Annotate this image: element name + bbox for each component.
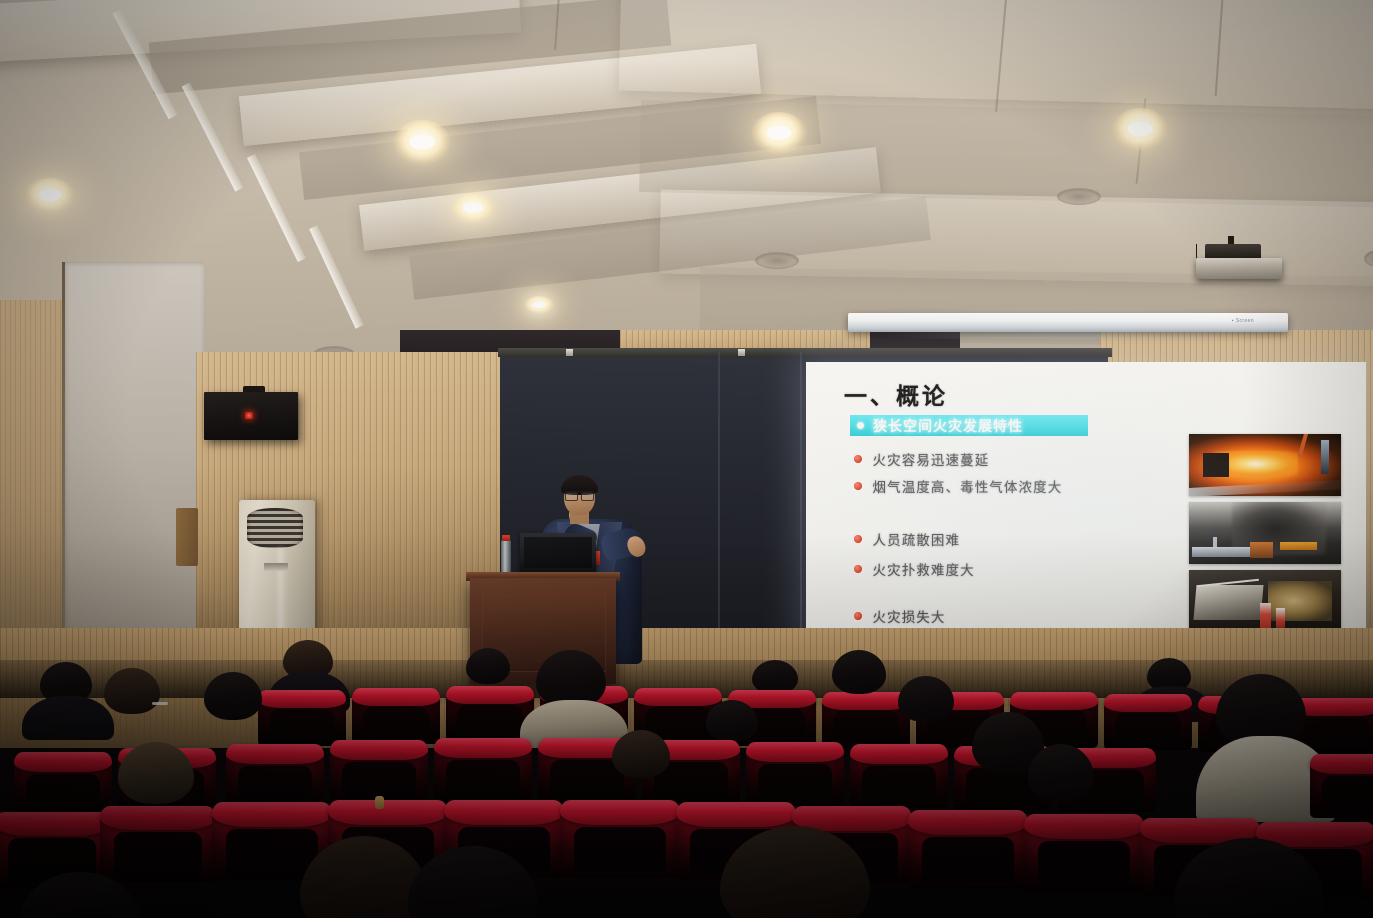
ceiling-step-edge [309,225,364,328]
screen-brand-logo: ▪ Screen [1232,318,1254,324]
ac-control-panel [264,563,288,571]
hair-tie [375,796,384,809]
backdrop-top-rail [498,348,1112,357]
ceiling-downlight-off [755,252,799,269]
seat[interactable] [434,738,532,802]
roadside-post [1321,440,1329,474]
attendee-head [1028,744,1094,802]
slide-bullet: 火灾损失大 [854,606,946,626]
seat[interactable] [14,752,112,816]
attendee-head [706,700,758,742]
slide-bullet: 火灾容易迅速蔓延 [854,449,989,469]
seat[interactable] [908,810,1028,888]
seat[interactable] [352,688,440,744]
slide-photo-wreckage [1189,570,1341,632]
slide-bullet-text: 烟气温度高、毒性气体浓度大 [873,476,1063,496]
attendee-head [118,742,194,804]
projector-icon [1196,258,1282,279]
seat[interactable] [560,800,680,878]
floor-object [176,508,198,566]
seat[interactable] [1310,754,1373,818]
slide-bullet-text: 火灾容易迅速蔓延 [873,449,990,469]
ceiling-step-edge [247,154,306,262]
slide-photo-burning-vehicle [1189,434,1341,496]
projected-slide: 一、概论 狭长空间火灾发展特性 火灾容易迅速蔓延 烟气温度高、毒性气体浓度大 人… [806,362,1366,644]
rail-glint [738,349,745,356]
attendee-head [104,668,160,714]
ac-air-grille [247,508,303,548]
bullet-dot-icon [854,565,862,573]
ceiling-downlight-on [1113,108,1167,150]
ceiling-downlight-on [752,112,806,154]
seat[interactable] [258,690,346,746]
attendee-head [832,650,886,694]
slide-bullet-text: 火灾扑救难度大 [873,559,975,579]
rail-glint [566,349,573,356]
seat[interactable] [850,744,948,808]
attendee-head [466,648,510,684]
slide-photo-smoke-plume [1189,502,1341,564]
slide-bullet-text: 火灾损失大 [873,606,946,626]
slide-highlight-heading-text: 狭长空间火灾发展特性 [873,416,1023,436]
attendee-head [898,676,954,722]
seat[interactable] [1024,814,1144,892]
responder-figure [1276,608,1285,629]
road-surface [1189,480,1341,496]
auditorium-lecture-photograph: ▪ Screen 一、概论 狭长空间火灾发展特性 火灾容易迅速蔓延 烟气温度高、… [0,0,1373,918]
backdrop-seam [800,352,802,670]
glasses-icon [152,702,168,705]
slide-bullet-text: 人员疏散困难 [873,529,961,549]
road-sign [1280,542,1316,550]
projection-screen-housing: ▪ Screen [848,313,1288,332]
seat[interactable] [100,806,216,882]
bottle-cap [502,535,510,541]
attendee-head [204,672,262,720]
bullet-dot-icon [854,455,862,463]
ceiling-downlight-on [451,193,495,223]
guardrail [1192,547,1250,557]
ceiling-downlight-on [524,296,554,314]
responder-figure [1260,603,1271,628]
slide-bullet: 火灾扑救难度大 [854,559,975,579]
ceiling-downlight-on [26,178,74,212]
slide-highlight-heading: 狭长空间火灾发展特性 [850,415,1088,436]
bullet-dot-icon [854,482,862,490]
ceiling-step-edge [182,82,244,191]
power-led-icon [245,412,253,419]
seat[interactable] [330,740,428,804]
bullet-dot-icon [854,612,862,620]
heading-bullet-icon [857,422,864,429]
laptop-screen-bezel [524,537,592,568]
seat[interactable] [1104,694,1192,750]
ceiling-downlight-on [394,120,450,164]
ceiling-downlight-off [1057,188,1101,205]
slide-bullet: 烟气温度高、毒性气体浓度大 [854,476,1062,496]
attendee-head [612,730,670,778]
pole [1297,434,1307,456]
attendee-head [752,660,798,694]
seat[interactable] [226,744,324,808]
wrecked-vehicle [1194,585,1264,620]
seat[interactable] [746,742,844,806]
vehicle-cab [1203,453,1229,478]
backdrop-seam [718,352,720,670]
slide-title: 一、概论 [844,377,948,411]
seat[interactable] [822,692,910,748]
bullet-dot-icon [854,535,862,543]
slide-bullet: 人员疏散困难 [854,529,960,549]
glasses-icon [565,491,594,499]
burning-truck [1250,542,1273,558]
water-bottle-icon [501,540,511,574]
